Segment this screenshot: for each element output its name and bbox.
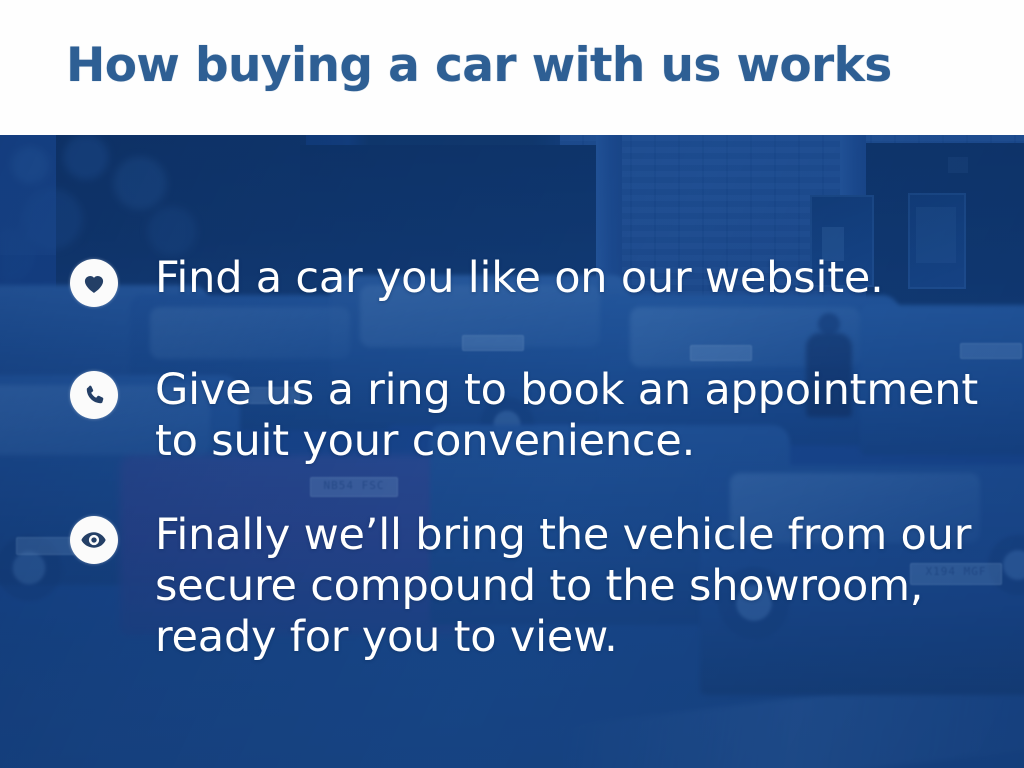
eye-icon [70, 516, 118, 564]
step-item-finally-bring-vehicle: Finally we’ll bring the vehicle from our… [70, 510, 985, 663]
page-title: How buying a car with us works [66, 38, 892, 93]
heart-icon [70, 259, 118, 307]
step-item-give-us-a-ring: Give us a ring to book an appointment to… [70, 365, 985, 467]
slide-root: NB54 FSC X194 MGF How buying a car with … [0, 0, 1024, 768]
step-text: Find a car you like on our website. [155, 253, 884, 304]
header-band: How buying a car with us works [0, 0, 1024, 135]
step-text: Finally we’ll bring the vehicle from our… [155, 510, 985, 663]
steps-list: Find a car you like on our website. Give… [0, 135, 1024, 768]
step-item-find-a-car: Find a car you like on our website. [70, 253, 884, 307]
phone-icon [70, 371, 118, 419]
step-text: Give us a ring to book an appointment to… [155, 365, 985, 467]
